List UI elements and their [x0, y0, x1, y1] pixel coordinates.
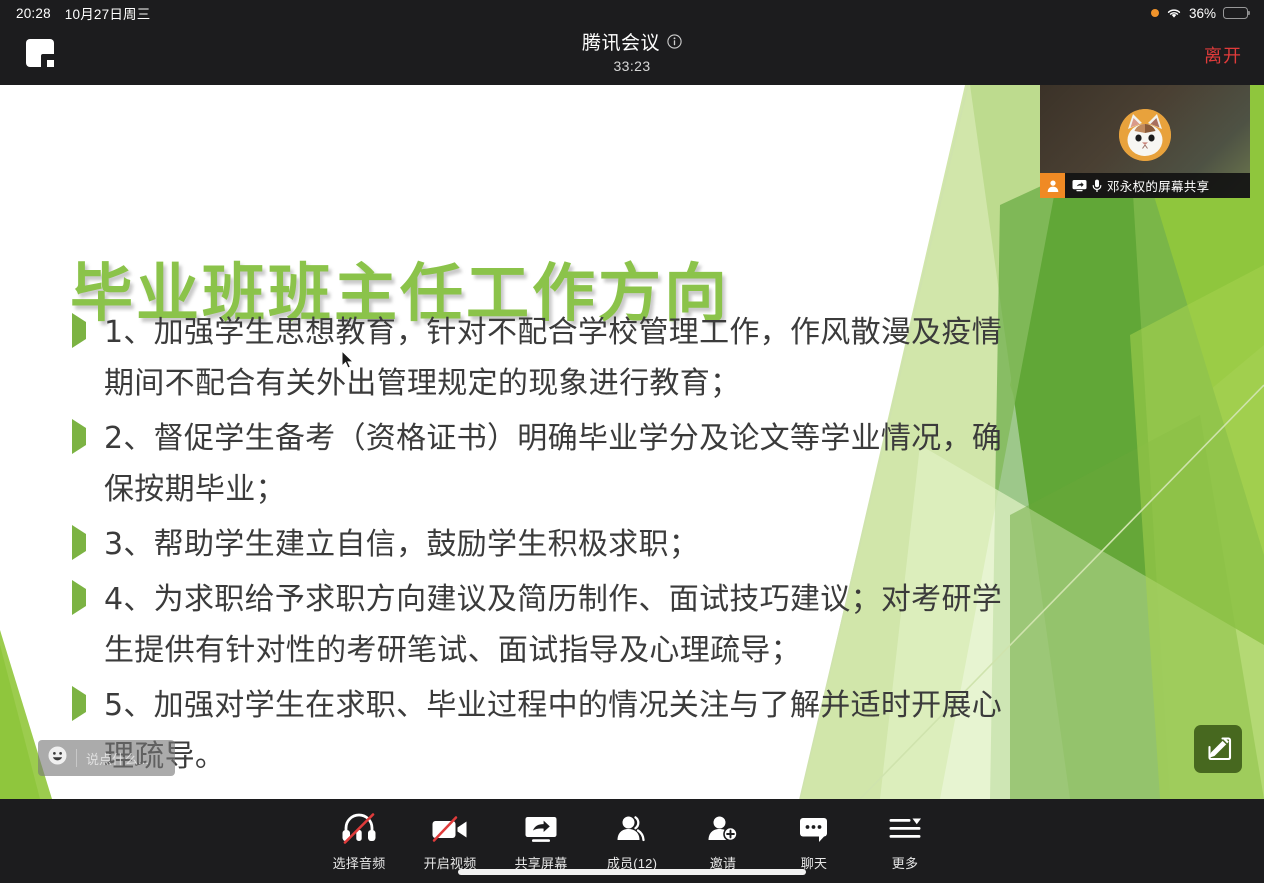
bullet-text: 4、为求职给予求职方向建议及简历制作、面试技巧建议；对考研学生提供有针对性的考研… [104, 574, 1022, 676]
list-item: 1、加强学生思想教育，针对不配合学校管理工作，作风散漫及疫情期间不配合有关外出管… [72, 307, 1022, 409]
bullet-text: 2、督促学生备考（资格证书）明确毕业学分及论文等学业情况，确保按期毕业； [104, 413, 1022, 515]
slide-bullet-list: 1、加强学生思想教育，针对不配合学校管理工作，作风散漫及疫情期间不配合有关外出管… [72, 307, 1022, 786]
meeting-header: 腾讯会议 33:23 离开 [0, 26, 1264, 84]
leave-meeting-button[interactable]: 离开 [1204, 42, 1242, 68]
green-triangle-icon [72, 534, 98, 552]
battery-icon [1223, 7, 1248, 19]
chat-input-placeholder: 说点什么... [86, 749, 149, 768]
orange-dot-icon [1151, 9, 1159, 17]
headphones-muted-icon [341, 810, 377, 848]
toolbar-item-select-audio[interactable]: 选择音频 [314, 810, 405, 872]
list-item: 4、为求职给予求职方向建议及简历制作、面试技巧建议；对考研学生提供有针对性的考研… [72, 574, 1022, 676]
status-time: 20:28 [16, 6, 51, 21]
toolbar-item-more[interactable]: 更多 [860, 810, 951, 872]
toolbar-item-share-screen[interactable]: 共享屏幕 [496, 810, 587, 872]
thumbnail-label-bar: 邓永权的屏幕共享 [1040, 173, 1250, 198]
status-bar-right: 36% [1151, 6, 1248, 21]
meeting-title: 腾讯会议 [582, 28, 660, 55]
person-host-icon [1040, 173, 1065, 198]
annotate-button[interactable] [1194, 725, 1242, 773]
ios-status-bar: 20:28 10月27日周三 36% [0, 0, 1264, 26]
smiley-icon[interactable] [48, 746, 67, 770]
list-item: 5、加强对学生在求职、毕业过程中的情况关注与了解并适时开展心理疏导。 [72, 680, 1022, 782]
presenter-video-thumbnail[interactable]: 邓永权的屏幕共享 [1040, 85, 1250, 198]
meeting-title-block: 腾讯会议 33:23 [0, 26, 1264, 74]
people-icon [616, 810, 648, 848]
chat-input-pill[interactable]: 说点什么... [38, 740, 175, 776]
microphone-icon [1092, 179, 1102, 193]
toolbar-label: 选择音频 [333, 853, 386, 872]
wifi-icon [1166, 7, 1182, 19]
status-bar-left: 20:28 10月27日周三 [16, 3, 150, 23]
toolbar-item-invite[interactable]: 邀请 [678, 810, 769, 872]
meeting-screen: 20:28 10月27日周三 36% 腾讯会议 [0, 0, 1264, 883]
avatar [1119, 109, 1171, 161]
bullet-text: 5、加强对学生在求职、毕业过程中的情况关注与了解并适时开展心理疏导。 [104, 680, 1022, 782]
presenter-name-label: 邓永权的屏幕共享 [1107, 176, 1209, 195]
toolbar-label: 更多 [892, 853, 918, 872]
green-triangle-icon [72, 695, 98, 713]
screen-share-icon [1072, 179, 1087, 192]
list-item: 2、督促学生备考（资格证书）明确毕业学分及论文等学业情况，确保按期毕业； [72, 413, 1022, 515]
info-circle-icon[interactable] [667, 34, 682, 49]
home-indicator-bar[interactable] [458, 869, 806, 875]
more-menu-icon [888, 810, 922, 848]
green-triangle-icon [72, 589, 98, 607]
meeting-timer: 33:23 [0, 58, 1264, 74]
bullet-text: 3、帮助学生建立自信，鼓励学生积极求职； [104, 519, 699, 570]
list-item: 3、帮助学生建立自信，鼓励学生积极求职； [72, 519, 1022, 570]
pencil-annotate-icon [1204, 735, 1232, 763]
bullet-text: 1、加强学生思想教育，针对不配合学校管理工作，作风散漫及疫情期间不配合有关外出管… [104, 307, 1022, 409]
person-add-icon [707, 810, 739, 848]
green-triangle-icon [72, 428, 98, 446]
mouse-cursor [341, 350, 355, 370]
toolbar-item-chat[interactable]: 聊天 [769, 810, 860, 872]
toolbar-item-start-video[interactable]: 开启视频 [405, 810, 496, 872]
toolbar-item-members[interactable]: 成员(12) [587, 810, 678, 872]
chat-bubble-icon [798, 810, 830, 848]
green-triangle-icon [72, 322, 98, 340]
screen-share-icon [524, 810, 558, 848]
status-date: 10月27日周三 [65, 3, 151, 23]
video-camera-off-icon [431, 810, 469, 848]
thumbnail-status-icons [1065, 179, 1107, 193]
battery-percent-label: 36% [1189, 6, 1216, 21]
